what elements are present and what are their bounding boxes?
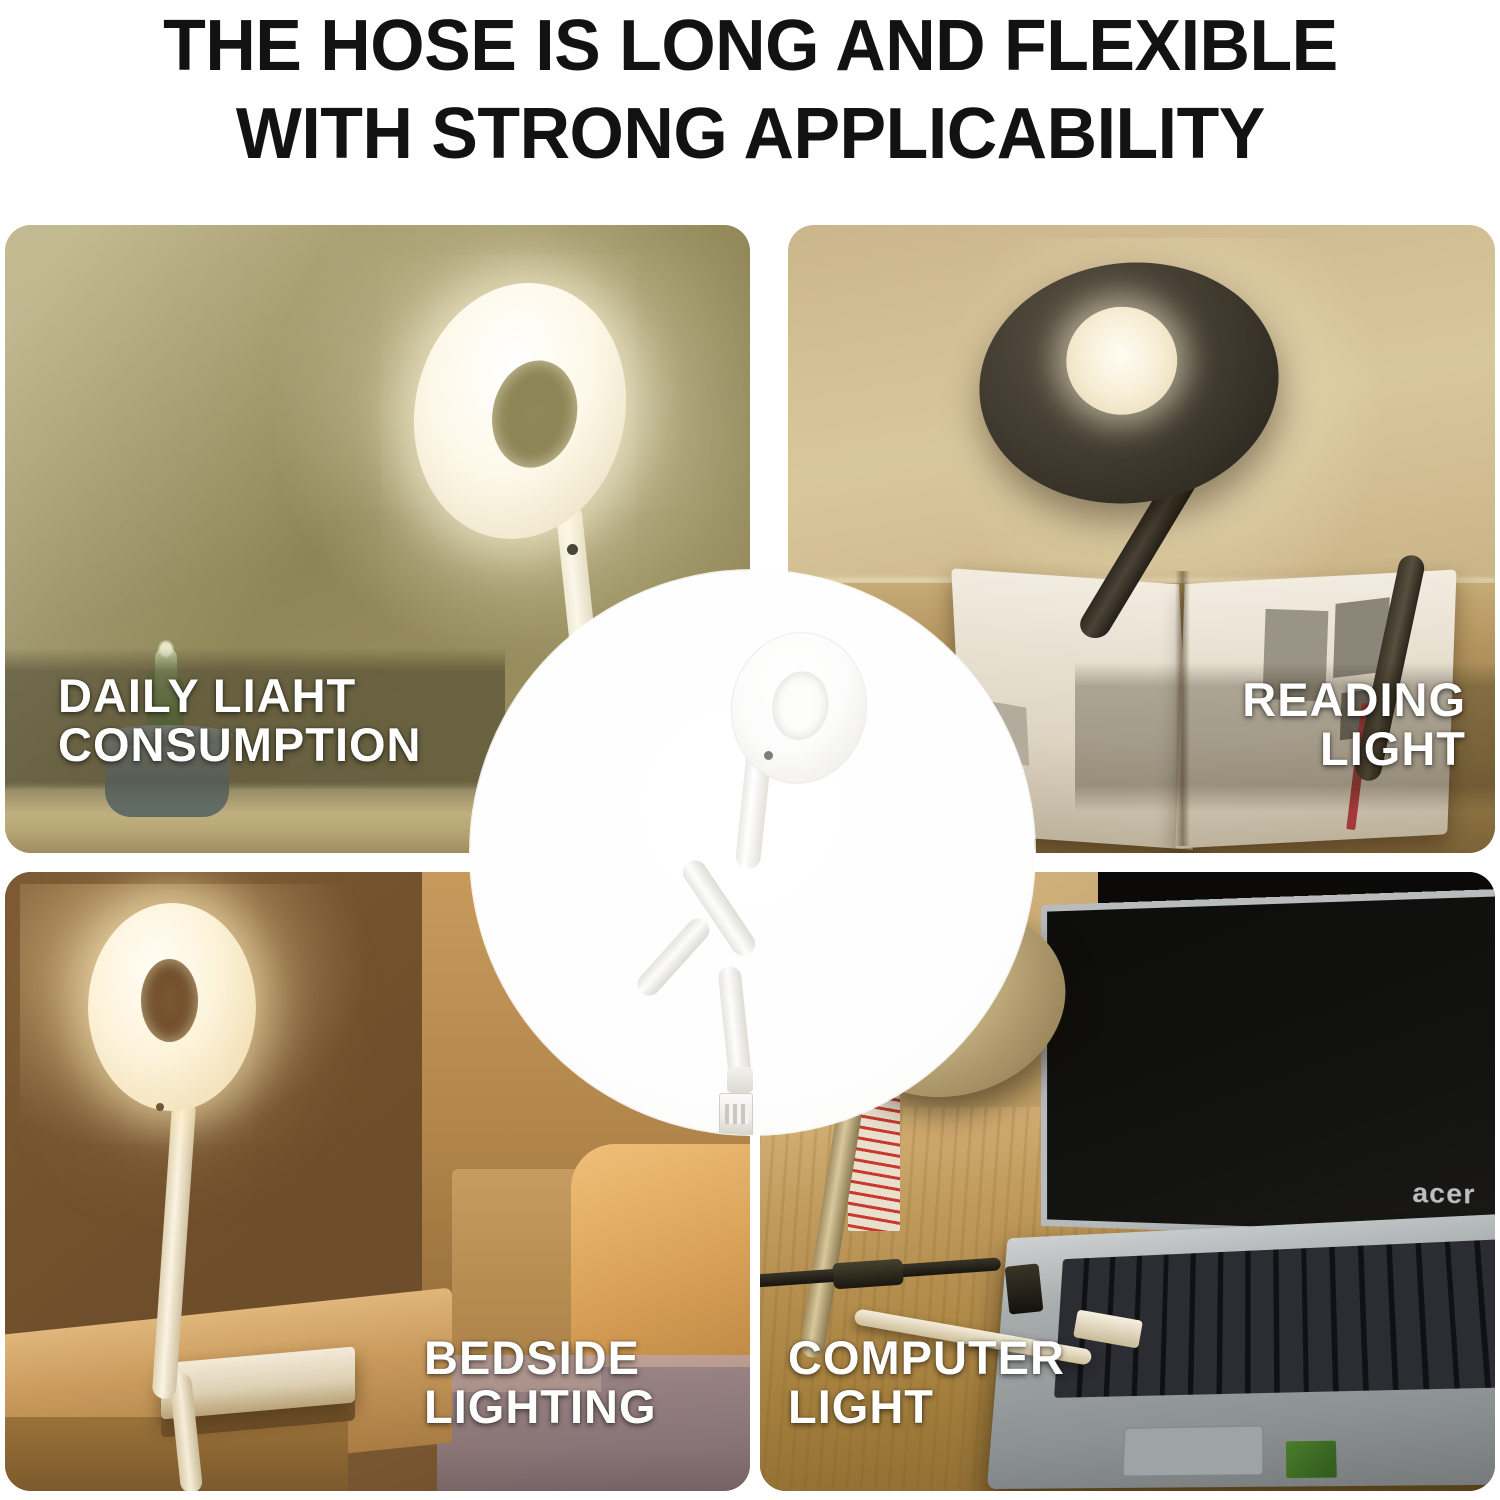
acer-logo: acer [1412,1177,1475,1211]
touch-sensor-dot [156,1103,164,1111]
label-line-1: READING [1106,676,1466,725]
ring-lamp-black [979,263,1417,627]
headline: THE HOSE IS LONG AND FLEXIBLE WITH STRON… [0,0,1500,210]
product-feature-image: THE HOSE IS LONG AND FLEXIBLE WITH STRON… [0,0,1500,1500]
headline-line-2: WITH STRONG APPLICABILITY [236,90,1265,178]
cable-ferrite-bead [832,1258,904,1289]
ring-lamp-head [719,622,877,793]
gooseneck-upper [151,1098,196,1399]
touch-sensor-dot [567,544,578,555]
label-line-2: LIGHT [788,1383,1188,1432]
label-daily-light-consumption: DAILY LIAHT CONSUMPTION [58,672,488,770]
gooseneck-segment-mid-lower [633,914,714,1001]
label-reading-light: READING LIGHT [1106,676,1466,774]
headline-line-1: THE HOSE IS LONG AND FLEXIBLE [163,2,1338,90]
touch-sensor-dot [764,751,773,760]
label-line-1: DAILY LIAHT [58,672,488,721]
ring-lamp-head [88,903,256,1111]
ring-lamp-white [80,903,378,1435]
center-product-circle [470,570,1035,1135]
black-usb-connector [1005,1263,1044,1314]
label-line-1: BEDSIDE [424,1334,764,1383]
ring-lamp-head [965,245,1292,520]
label-line-2: CONSUMPTION [58,721,488,770]
laptop-trackpad [1122,1425,1263,1476]
usb-a-connector [719,1093,753,1135]
label-line-1: COMPUTER [788,1334,1188,1383]
label-line-2: LIGHTING [424,1383,764,1432]
usb-strain-relief [727,1067,753,1093]
label-computer-light: COMPUTER LIGHT [788,1334,1188,1432]
label-line-2: LIGHT [1106,725,1466,774]
ring-lamp-head [390,263,649,559]
laptop-sticker [1285,1440,1336,1477]
label-bedside-lighting: BEDSIDE LIGHTING [424,1334,764,1432]
